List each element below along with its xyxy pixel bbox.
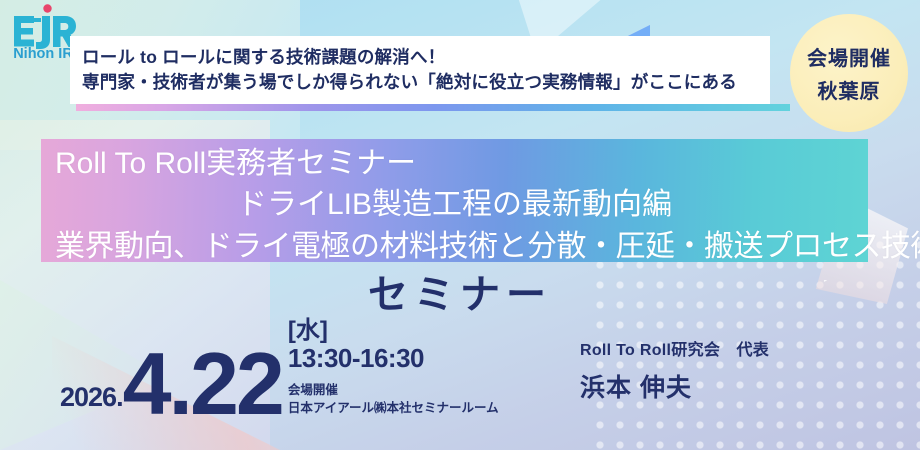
accent-bar — [76, 104, 790, 111]
schedule-year: 2026. — [60, 382, 123, 422]
headline-line-2: 専門家・技術者が集う場でしか得られない「絶対に役立つ実務情報」がここにある — [82, 70, 758, 95]
schedule-venue-name: 日本アイアール㈱本社セミナールーム — [288, 399, 499, 417]
speaker-block: Roll To Roll研究会 代表 浜本 伸夫 — [580, 336, 769, 404]
headline-box: ロール to ロールに関する技術課題の解消へ！ 専門家・技術者が集う場でしか得ら… — [70, 36, 770, 104]
seminar-poster: Nihon IR ロール to ロールに関する技術課題の解消へ！ 専門家・技術者… — [0, 0, 920, 450]
title-line-3: 業界動向、ドライ電極の材料技術と分散・圧延・搬送プロセス技術 — [55, 220, 854, 262]
speaker-name: 浜本 伸夫 — [580, 368, 769, 404]
schedule-block: 2026. 4.22 [水] 13:30-16:30 会場開催 日本アイアール㈱… — [60, 318, 499, 422]
venue-badge-line-2: 秋葉原 — [818, 75, 881, 104]
speaker-affiliation: Roll To Roll研究会 代表 — [580, 336, 769, 360]
seminar-word: セミナー — [0, 262, 920, 320]
venue-badge-line-1: 会場開催 — [807, 42, 891, 71]
schedule-date: 4.22 — [123, 346, 282, 422]
title-band: Roll To Roll実務者セミナー ドライLIB製造工程の最新動向編 業界動… — [41, 139, 868, 262]
schedule-day-of-week: [水] — [288, 318, 499, 344]
schedule-time: 13:30-16:30 — [288, 344, 499, 374]
headline-line-1: ロール to ロールに関する技術課題の解消へ！ — [82, 45, 758, 70]
schedule-detail: [水] 13:30-16:30 会場開催 日本アイアール㈱本社セミナールーム — [282, 318, 499, 422]
schedule-venue-type: 会場開催 — [288, 381, 499, 399]
title-line-2: ドライLIB製造工程の最新動向編 — [55, 179, 854, 220]
venue-badge: 会場開催 秋葉原 — [790, 14, 908, 132]
title-line-1: Roll To Roll実務者セミナー — [55, 143, 854, 179]
logo-text: Nihon IR — [13, 46, 73, 60]
